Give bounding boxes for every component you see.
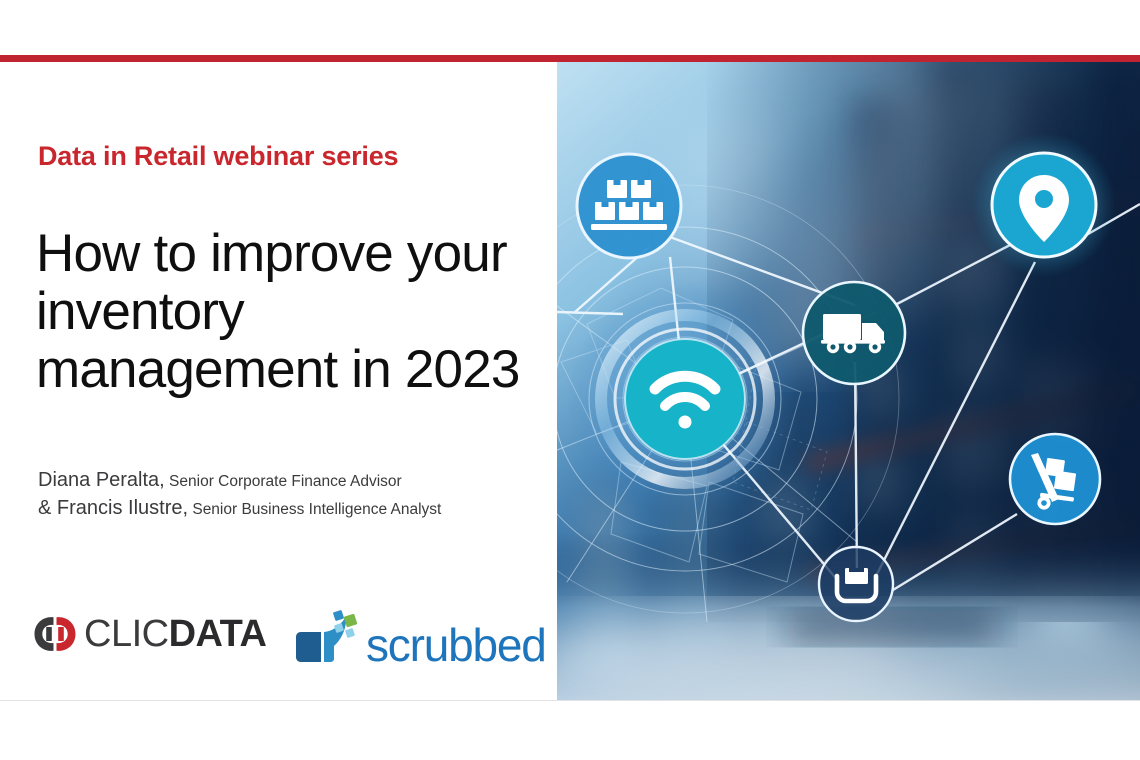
presenter-name: Diana Peralta, [38,469,165,491]
left-text-column: Data in Retail webinar series How to imp… [0,62,557,700]
node-delivery-truck [803,282,905,384]
slide-body: Data in Retail webinar series How to imp… [0,62,1140,701]
scrubbed-wordmark: scrubbed [366,622,546,668]
presenter-name: & Francis Ilustre, [38,497,188,519]
presenter-list: Diana Peralta, Senior Corporate Finance … [38,467,538,523]
presenter-role: Senior Business Intelligence Analyst [188,501,441,518]
webinar-title-slide: Data in Retail webinar series How to imp… [0,0,1140,760]
clicdata-word-clic: CLIC [84,613,169,655]
logo-row: CLICDATA scrubbed [32,607,532,677]
presenter-row: & Francis Ilustre, Senior Business Intel… [38,495,538,523]
node-location-pin [972,133,1116,277]
series-eyebrow: Data in Retail webinar series [38,141,398,172]
node-wifi-hub [601,315,769,483]
clicdata-word-data: DATA [169,613,267,655]
node-handle-with-care [819,547,893,621]
top-accent-rule [0,55,1140,62]
presenter-role: Senior Corporate Finance Advisor [165,473,402,490]
node-hand-truck [1010,434,1100,524]
clicdata-wordmark: CLICDATA [84,615,266,653]
scrubbed-mark-icon [290,607,362,671]
warehouse-network-image [557,62,1140,700]
scrubbed-logo: scrubbed [290,607,546,671]
clicdata-logo: CLICDATA [32,613,266,655]
page-title: How to improve your inventory management… [36,225,536,399]
warehouse-network-artwork [557,62,1140,700]
node-pallet-boxes [577,154,681,258]
presenter-row: Diana Peralta, Senior Corporate Finance … [38,467,538,495]
clicdata-mark-icon [32,613,78,655]
